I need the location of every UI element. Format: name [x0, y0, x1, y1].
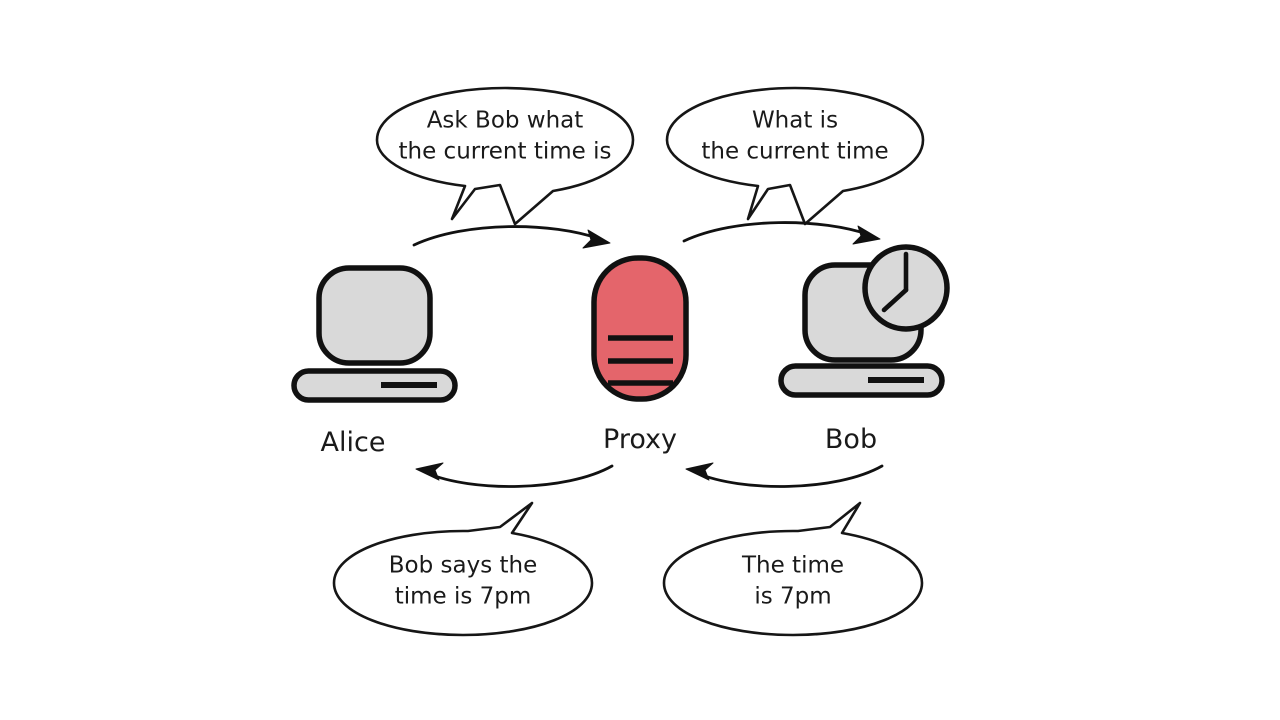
speech-bubble-proxy-to-bob: What is the current time: [667, 88, 923, 224]
proxy-server-icon: [594, 258, 686, 399]
diagram-canvas: Ask Bob what the current time is What is…: [0, 0, 1280, 720]
node-bob[interactable]: Bob: [781, 247, 947, 455]
node-label-alice: Alice: [321, 427, 386, 458]
speech-bubble-alice-to-proxy: Ask Bob what the current time is: [377, 88, 633, 224]
speech-bubble-proxy-to-alice: Bob says the time is 7pm: [334, 503, 592, 635]
arrow-curve: [684, 223, 870, 241]
arrow-curve: [414, 227, 600, 245]
bubble-line-1: The time: [741, 553, 844, 579]
bubble-line-1: Bob says the: [389, 553, 538, 579]
arrow-bob-to-proxy: [686, 463, 882, 486]
bubble-line-2: the current time: [701, 139, 888, 165]
proxy-time-diagram: Ask Bob what the current time is What is…: [0, 0, 1280, 720]
node-label-bob: Bob: [825, 424, 877, 455]
node-label-proxy: Proxy: [603, 424, 677, 455]
bubble-line-1: Ask Bob what: [427, 108, 584, 134]
node-alice[interactable]: Alice: [294, 268, 455, 458]
arrow-proxy-to-bob: [684, 223, 880, 244]
arrow-proxy-to-alice: [416, 463, 612, 486]
speech-bubble-bob-to-proxy: The time is 7pm: [664, 503, 922, 635]
bubble-line-2: the current time is: [399, 139, 612, 165]
arrow-head-right: [853, 226, 880, 244]
node-proxy[interactable]: Proxy: [594, 258, 686, 455]
monitor-icon: [319, 268, 430, 363]
bubble-line-2: time is 7pm: [395, 584, 532, 610]
arrow-alice-to-proxy: [414, 227, 610, 248]
clock-icon: [865, 247, 947, 329]
arrow-curve: [697, 466, 882, 486]
arrow-head-right: [583, 230, 610, 248]
bubble-line-2: is 7pm: [754, 584, 831, 610]
arrow-curve: [427, 466, 612, 486]
bubble-line-1: What is: [752, 108, 838, 134]
